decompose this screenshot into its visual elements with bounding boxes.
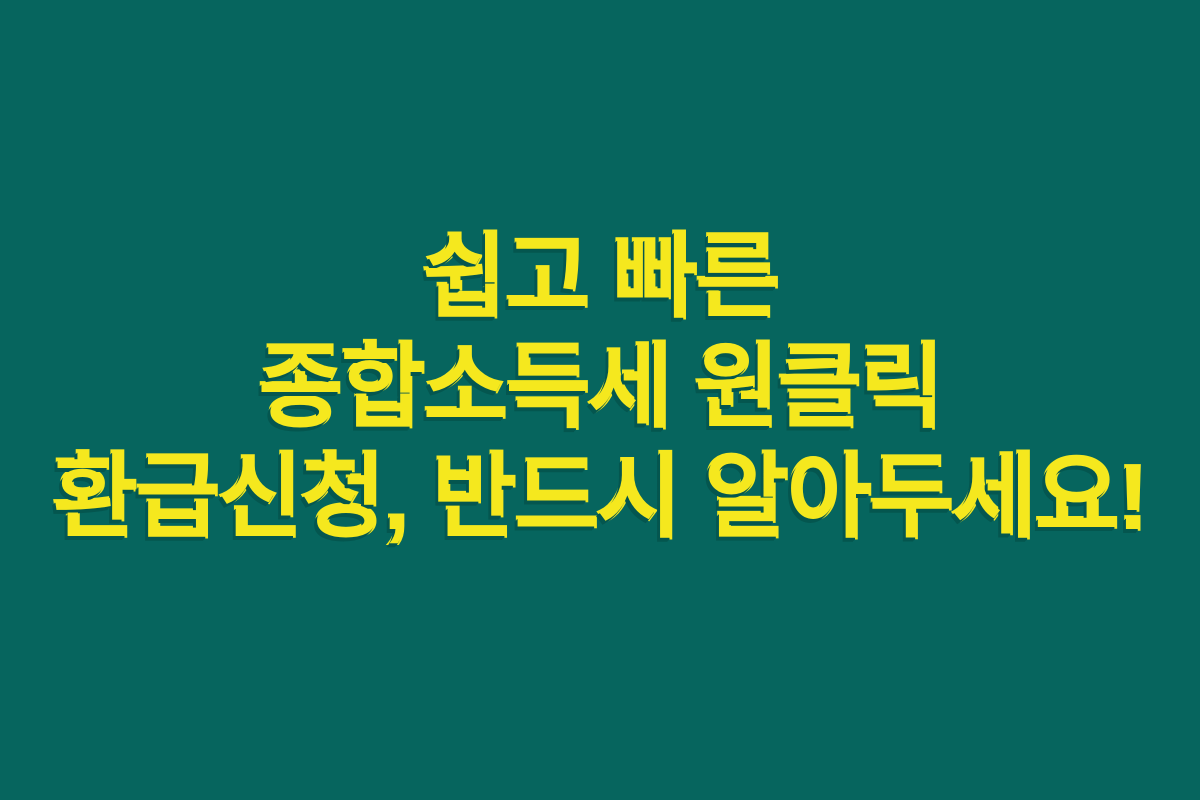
headline-line-2-text: 종합소득세 원클릭 [258,342,942,434]
headline-line-3: 환급신청, 반드시 알아두세요! [0,452,1200,544]
promo-banner: 쉽고 빠른 종합소득세 원클릭 환급신청, 반드시 알아두세요! [0,0,1200,800]
headline-line-3-text: 환급신청, 반드시 알아두세요! [53,452,1147,544]
headline-block: 쉽고 빠른 종합소득세 원클릭 환급신청, 반드시 알아두세요! [0,0,1200,800]
headline-line-1: 쉽고 빠른 [0,232,1200,324]
headline-line-2: 종합소득세 원클릭 [0,342,1200,434]
headline-line-1-text: 쉽고 빠른 [422,232,778,324]
